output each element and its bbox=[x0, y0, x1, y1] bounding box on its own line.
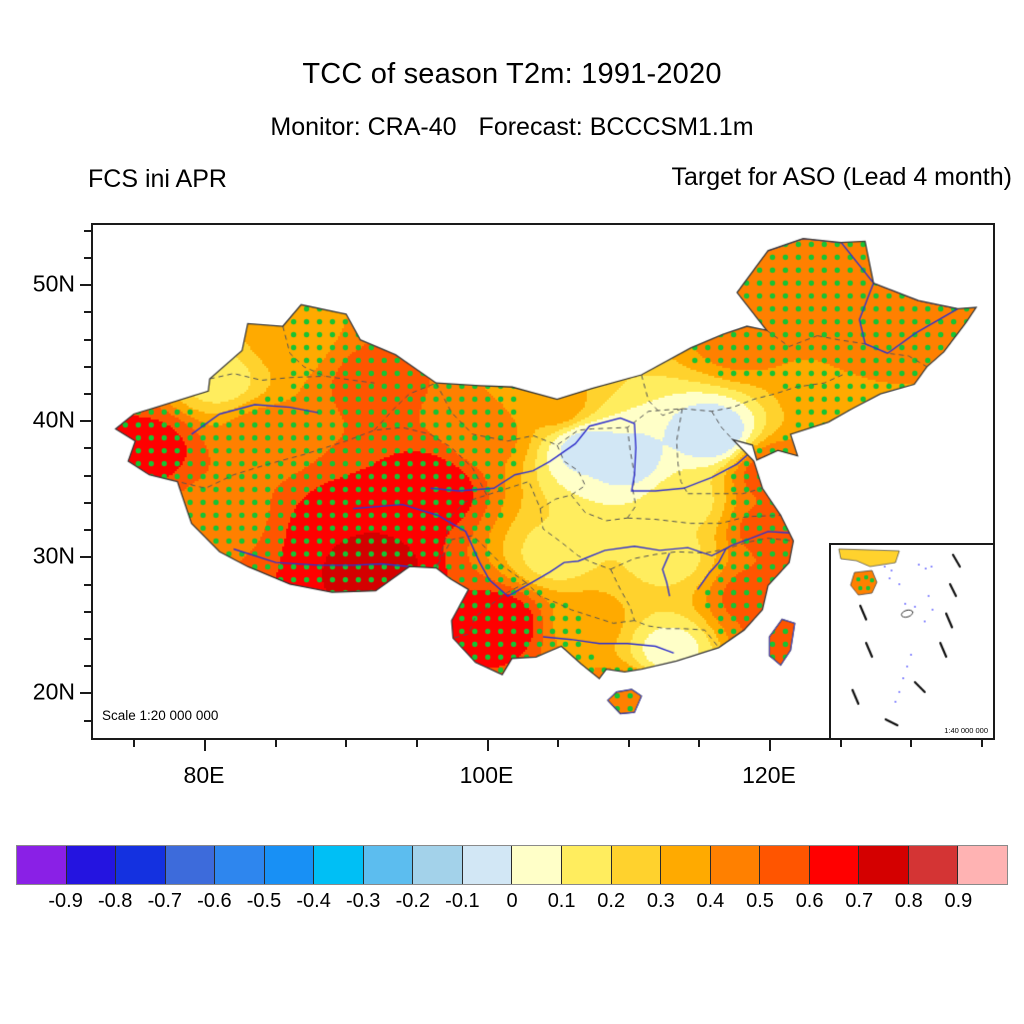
south-china-sea-inset: 1:40 000 000 bbox=[829, 543, 995, 740]
lat-tick-minor bbox=[84, 611, 91, 613]
colorbar-swatch bbox=[67, 846, 117, 884]
lat-tick-label: 20N bbox=[33, 679, 91, 706]
colorbar-tick-label: -0.6 bbox=[197, 890, 231, 913]
colorbar-tick-label: 0.8 bbox=[895, 890, 923, 913]
lat-tick-label: 50N bbox=[33, 271, 91, 298]
lon-tick-minor bbox=[133, 740, 135, 747]
forecast-init-label: FCS ini APR bbox=[88, 165, 227, 194]
map-scale-label: Scale 1:20 000 000 bbox=[102, 708, 218, 723]
inset-scale-label: 1:40 000 000 bbox=[944, 726, 988, 735]
colorbar-swatch bbox=[661, 846, 711, 884]
colorbar-tick-label: 0.4 bbox=[696, 890, 724, 913]
colorbar-tick-label: 0.9 bbox=[944, 890, 972, 913]
colorbar-tick-label: -0.2 bbox=[396, 890, 430, 913]
lat-tick-minor bbox=[84, 584, 91, 586]
colorbar-swatch bbox=[265, 846, 315, 884]
lon-tick-minor bbox=[910, 740, 912, 747]
colorbar-swatch bbox=[612, 846, 662, 884]
colorbar-tick-label: -0.3 bbox=[346, 890, 380, 913]
lon-tick-major bbox=[487, 740, 489, 751]
colorbar-swatch bbox=[116, 846, 166, 884]
lon-tick-minor bbox=[981, 740, 983, 747]
forecast-target-label: Target for ASO (Lead 4 month) bbox=[672, 163, 1012, 192]
lat-tick-minor bbox=[84, 638, 91, 640]
lat-tick-minor bbox=[84, 447, 91, 449]
lon-tick-minor bbox=[345, 740, 347, 747]
lat-tick-minor bbox=[84, 230, 91, 232]
colorbar-swatch bbox=[413, 846, 463, 884]
colorbar-tick-label: 0.3 bbox=[647, 890, 675, 913]
colorbar-swatch bbox=[463, 846, 513, 884]
lat-tick-minor bbox=[84, 339, 91, 341]
colorbar-swatch bbox=[810, 846, 860, 884]
lon-tick-minor bbox=[628, 740, 630, 747]
lat-tick-label: 30N bbox=[33, 543, 91, 570]
lon-tick-minor bbox=[557, 740, 559, 747]
chart-title: TCC of season T2m: 1991-2020 bbox=[0, 58, 1024, 91]
lon-tick-major bbox=[204, 740, 206, 751]
lat-tick-minor bbox=[84, 720, 91, 722]
lon-tick-label: 100E bbox=[460, 762, 514, 789]
colorbar-tick-label: 0.6 bbox=[796, 890, 824, 913]
colorbar-swatch bbox=[512, 846, 562, 884]
subtitle-monitor: Monitor: CRA-40 bbox=[270, 113, 456, 141]
colorbar-tick-label: -0.9 bbox=[48, 890, 82, 913]
colorbar-tick-label: 0.1 bbox=[548, 890, 576, 913]
colorbar-swatch bbox=[215, 846, 265, 884]
colorbar-swatch bbox=[166, 846, 216, 884]
colorbar-swatch bbox=[314, 846, 364, 884]
lat-tick-minor bbox=[84, 257, 91, 259]
subtitle-forecast: Forecast: BCCCSM1.1m bbox=[479, 113, 754, 141]
colorbar-swatch bbox=[562, 846, 612, 884]
colorbar-swatch bbox=[909, 846, 959, 884]
colorbar-tick-label: -0.5 bbox=[247, 890, 281, 913]
colorbar-swatch bbox=[859, 846, 909, 884]
colorbar-tick-label: -0.7 bbox=[148, 890, 182, 913]
lon-tick-label: 80E bbox=[184, 762, 225, 789]
lon-tick-minor bbox=[275, 740, 277, 747]
lon-tick-minor bbox=[698, 740, 700, 747]
lon-tick-major bbox=[769, 740, 771, 751]
colorbar-swatch bbox=[17, 846, 67, 884]
colorbar-tick-labels: -0.9-0.8-0.7-0.6-0.5-0.4-0.3-0.2-0.100.1… bbox=[16, 890, 1008, 918]
lat-tick-label: 40N bbox=[33, 407, 91, 434]
colorbar-swatches bbox=[16, 845, 1008, 885]
colorbar-swatch bbox=[711, 846, 761, 884]
lat-tick-minor bbox=[84, 393, 91, 395]
lat-tick-minor bbox=[84, 366, 91, 368]
lat-tick-minor bbox=[84, 502, 91, 504]
lon-tick-minor bbox=[416, 740, 418, 747]
colorbar-tick-label: -0.1 bbox=[445, 890, 479, 913]
colorbar-tick-label: 0.5 bbox=[746, 890, 774, 913]
colorbar bbox=[16, 845, 1008, 885]
map-plot-area: 1:40 000 000 Scale 1:20 000 000 bbox=[91, 223, 995, 740]
lon-tick-label: 120E bbox=[742, 762, 796, 789]
colorbar-tick-label: 0 bbox=[506, 890, 517, 913]
colorbar-tick-label: 0.2 bbox=[597, 890, 625, 913]
colorbar-swatch bbox=[364, 846, 414, 884]
inset-map-canvas bbox=[831, 545, 993, 738]
colorbar-tick-label: -0.4 bbox=[296, 890, 330, 913]
colorbar-swatch bbox=[760, 846, 810, 884]
lat-tick-minor bbox=[84, 311, 91, 313]
colorbar-tick-label: -0.8 bbox=[98, 890, 132, 913]
lat-tick-minor bbox=[84, 529, 91, 531]
colorbar-swatch bbox=[958, 846, 1007, 884]
lat-tick-minor bbox=[84, 665, 91, 667]
lat-tick-minor bbox=[84, 475, 91, 477]
chart-subtitle: Monitor: CRA-40Forecast: BCCCSM1.1m bbox=[0, 113, 1024, 142]
colorbar-tick-label: 0.7 bbox=[845, 890, 873, 913]
lon-tick-minor bbox=[840, 740, 842, 747]
